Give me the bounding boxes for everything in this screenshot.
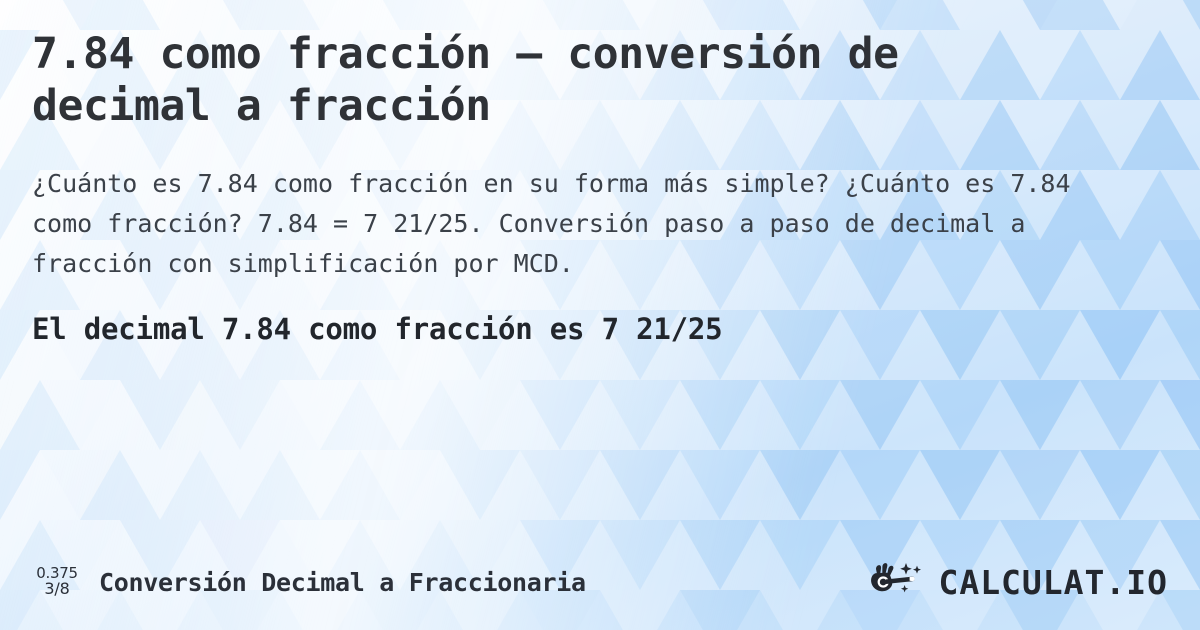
brand-logo[interactable]: CALCULAT.IO: [866, 560, 1178, 604]
page-description: ¿Cuánto es 7.84 como fracción en su form…: [32, 164, 1124, 284]
page-title: 7.84 como fracción – conversión de decim…: [32, 28, 1092, 133]
magic-wand-hand-icon: [866, 560, 930, 604]
footer-left-group: 0.375 3/8 Conversión Decimal a Fracciona…: [30, 566, 586, 599]
brand-wordmark: CALCULAT.IO: [938, 563, 1168, 602]
fraction-example-icon: 0.375 3/8: [30, 566, 84, 599]
answer-statement: El decimal 7.84 como fracción es 7 21/25: [32, 312, 1170, 347]
footer-category-label: Conversión Decimal a Fraccionaria: [99, 568, 586, 597]
card-footer: 0.375 3/8 Conversión Decimal a Fracciona…: [0, 534, 1200, 630]
social-card: 7.84 como fracción – conversión de decim…: [0, 0, 1200, 630]
fraction-icon-fraction: 3/8: [44, 581, 69, 598]
